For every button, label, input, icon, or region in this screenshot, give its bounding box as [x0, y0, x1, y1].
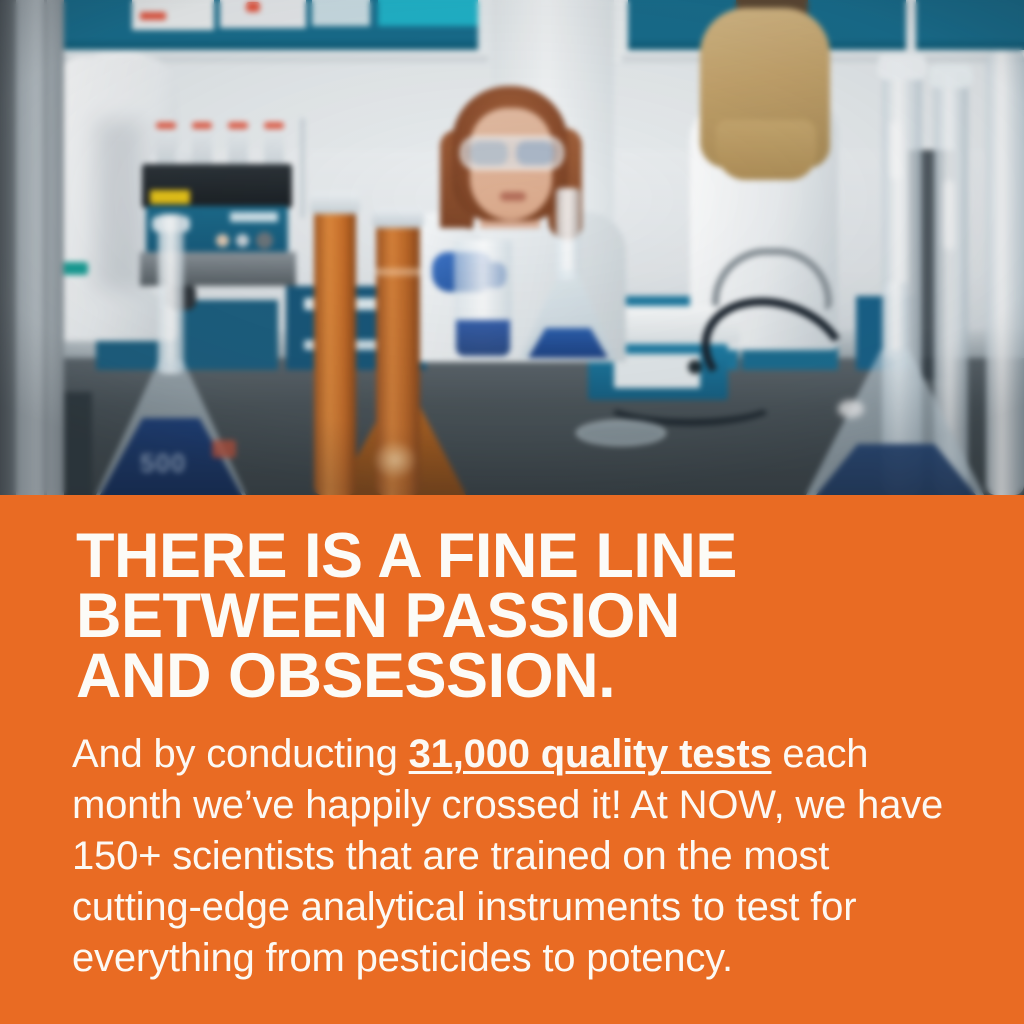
flask-label-tag — [212, 440, 236, 458]
headline-line-1: THERE IS A FINE LINE — [76, 526, 956, 586]
glass-column-cap — [878, 54, 926, 80]
social-media-card: 500 THERE IS A FINE LINE BETWEEN PASS — [0, 0, 1024, 1024]
upper-cabinet-left — [62, 0, 482, 44]
amber-column-cap — [372, 208, 424, 228]
instrument-knob — [256, 232, 273, 249]
glass-highlight — [838, 400, 864, 418]
goggle-lens-left — [470, 141, 508, 165]
laboratory-photo: 500 — [0, 0, 1024, 495]
reagent-box — [132, 0, 214, 30]
reagent-bottle-teal — [378, 0, 486, 26]
reagent-box — [220, 0, 306, 28]
headline-line-2: BETWEEN PASSION — [76, 586, 956, 646]
warning-label — [150, 190, 190, 204]
glass-highlight — [944, 180, 954, 250]
support-rod — [300, 118, 305, 218]
amber-highlight — [372, 440, 418, 480]
body-text-before: And by conducting — [72, 732, 409, 776]
coat-shadow — [96, 120, 142, 290]
body-paragraph: And by conducting 31,000 quality tests e… — [72, 729, 948, 984]
cable-coil — [600, 376, 780, 426]
column-seam — [44, 0, 47, 495]
test-tube-rack — [156, 120, 288, 168]
glass-column-cap — [930, 64, 972, 88]
amber-column-marking — [376, 268, 420, 276]
amber-column-1 — [314, 196, 356, 495]
headline-line-3: AND OBSESSION. — [76, 646, 956, 706]
petri-dish — [576, 420, 666, 446]
volumetric-flask-neck — [158, 214, 184, 374]
glass-highlight — [890, 120, 902, 180]
amber-column-cap — [310, 192, 360, 214]
headline: THERE IS A FINE LINE BETWEEN PASSION AND… — [76, 526, 956, 706]
reagent-box — [312, 0, 370, 26]
stat-emphasis: 31,000 quality tests — [409, 732, 772, 776]
instrument-knob — [216, 234, 229, 247]
goggle-lens-right — [516, 141, 554, 165]
scientist-right-hair-lower — [716, 120, 816, 180]
flask-volume-label: 500 — [140, 448, 204, 478]
flask-neck — [556, 188, 580, 280]
orange-text-panel: THERE IS A FINE LINE BETWEEN PASSION AND… — [0, 495, 1024, 1024]
glass-column-3 — [986, 50, 1024, 495]
beaker-liquid — [456, 320, 510, 356]
cabinet-divider — [906, 0, 916, 52]
instrument-display — [230, 212, 278, 222]
flask-neck-right — [884, 282, 908, 358]
cabinet-divider — [478, 0, 490, 52]
frame-edge-dark — [0, 0, 16, 495]
structural-column — [14, 0, 64, 495]
instrument-knob — [236, 234, 249, 247]
scientist-center-mouth — [500, 192, 526, 201]
